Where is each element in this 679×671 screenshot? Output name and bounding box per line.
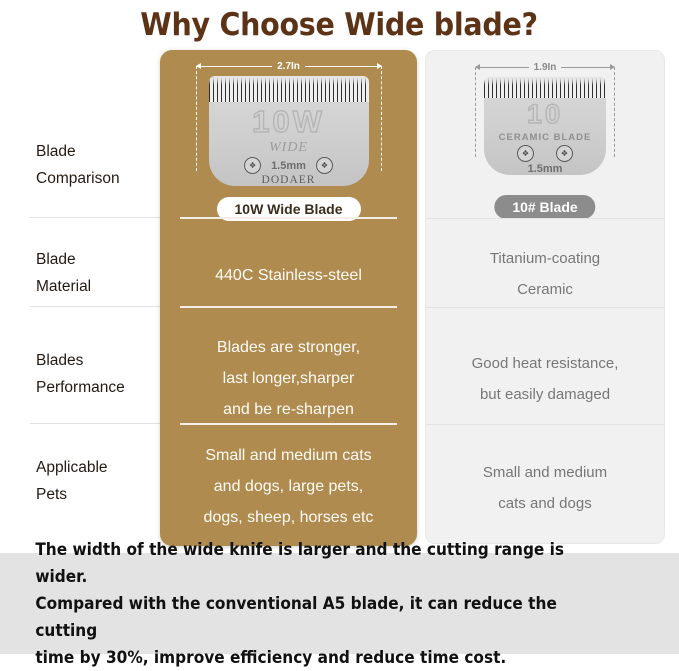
row-divider (30, 306, 160, 307)
bottom-banner: The width of the wide knife is larger an… (0, 553, 679, 654)
dimension-label: 2.7In (272, 61, 305, 72)
value-line2: and dogs, large pets, (160, 471, 417, 502)
comparison-table: Blade Comparison Blade Material Blades P… (0, 50, 679, 550)
value-line1: Titanium-coating (426, 243, 664, 274)
row-label-line2: Material (36, 273, 160, 300)
banner-line2: Compared with the conventional A5 blade,… (35, 590, 616, 644)
value-line1: Small and medium cats (160, 440, 417, 471)
right-value-blade-material: Titanium-coating Ceramic (426, 243, 664, 305)
blade-body-graphic: 10W WIDE ❖ 1.5mm ❖ DODAER (209, 76, 369, 186)
standard-blade-illustration: 1.9In 10 CERAMIC BLADE ❖ ❖ 1.5mm (426, 59, 664, 175)
value-line2: last longer,sharper (160, 363, 417, 394)
row-label-line1: Applicable (36, 454, 160, 481)
left-value-blades-performance: Blades are stronger, last longer,sharper… (160, 332, 417, 425)
right-value-blades-performance: Good heat resistance, but easily damaged (426, 348, 664, 410)
row-label-column: Blade Comparison Blade Material Blades P… (0, 50, 160, 550)
value-line2: but easily damaged (426, 379, 664, 410)
banner-line1: The width of the wide knife is larger an… (35, 536, 616, 590)
blade-subtitle-engraving: CERAMIC BLADE (499, 132, 592, 143)
blade-number-engraving: 10 (527, 101, 563, 128)
row-divider (30, 217, 160, 218)
value-line3: dogs, sheep, horses etc (160, 502, 417, 533)
blade-subtitle-engraving: WIDE (269, 140, 308, 156)
dimension-indicator: 1.9In (475, 59, 615, 75)
dimension-tick-left (475, 67, 476, 157)
row-label-line2: Pets (36, 481, 160, 508)
value-line3: and be re-sharpen (160, 394, 417, 425)
row-divider (30, 423, 160, 424)
title-bar: Why Choose Wide blade? (0, 0, 679, 50)
panel-divider (180, 306, 397, 308)
blade-screw-row: ❖ ❖ (517, 145, 573, 162)
dimension-tick-right (381, 66, 382, 171)
panel-divider (426, 218, 664, 219)
row-label-blade-material: Blade Material (36, 246, 160, 300)
row-label-applicable-pets: Applicable Pets (36, 454, 160, 508)
row-label-line2: Performance (36, 374, 160, 401)
dimension-tick-right (614, 67, 615, 157)
blade-brand-engraving: DODAER (262, 174, 316, 186)
screw-icon: ❖ (244, 157, 261, 174)
value-line1: Blades are stronger, (160, 332, 417, 363)
wide-blade-illustration: 2.7In 10W WIDE ❖ 1.5mm ❖ DODAER (160, 58, 417, 186)
panel-divider (426, 307, 664, 308)
standard-blade-column: 1.9In 10 CERAMIC BLADE ❖ ❖ 1.5mm 10 (425, 50, 665, 544)
row-label-line2: Comparison (36, 165, 160, 192)
panel-divider (426, 424, 664, 425)
right-value-applicable-pets: Small and medium cats and dogs (426, 457, 664, 519)
row-label-blade-comparison: Blade Comparison (36, 138, 160, 192)
value-line1: Good heat resistance, (426, 348, 664, 379)
blade-number-engraving: 10W (252, 106, 325, 137)
blade-mm-engraving: 1.5mm (271, 160, 306, 172)
dimension-tick-left (196, 66, 197, 171)
screw-icon: ❖ (517, 145, 534, 162)
wide-blade-column: 2.7In 10W WIDE ❖ 1.5mm ❖ DODAER (160, 50, 417, 546)
page-title: Why Choose Wide blade? (141, 7, 539, 43)
row-label-line1: Blades (36, 347, 160, 374)
row-label-line1: Blade (36, 246, 160, 273)
banner-line3: time by 30%, improve efficiency and redu… (35, 644, 616, 671)
blade-body-graphic: 10 CERAMIC BLADE ❖ ❖ 1.5mm (484, 77, 606, 175)
row-label-line1: Blade (36, 138, 160, 165)
banner-text: The width of the wide knife is larger an… (0, 536, 631, 671)
dimension-indicator: 2.7In (196, 58, 382, 74)
value-line2: Ceramic (426, 274, 664, 305)
panel-divider (180, 423, 397, 425)
screw-icon: ❖ (556, 145, 573, 162)
left-value-applicable-pets: Small and medium cats and dogs, large pe… (160, 440, 417, 533)
screw-icon: ❖ (316, 157, 333, 174)
blade-mm-engraving: 1.5mm (528, 163, 563, 175)
blade-screw-row: ❖ 1.5mm ❖ (244, 157, 333, 174)
left-value-blade-material: 440C Stainless-steel (160, 260, 417, 291)
panel-divider (180, 217, 397, 219)
value-line2: cats and dogs (426, 488, 664, 519)
dimension-label: 1.9In (529, 62, 562, 73)
standard-blade-pill-label: 10# Blade (494, 195, 595, 219)
row-label-blades-performance: Blades Performance (36, 347, 160, 401)
value-line1: Small and medium (426, 457, 664, 488)
